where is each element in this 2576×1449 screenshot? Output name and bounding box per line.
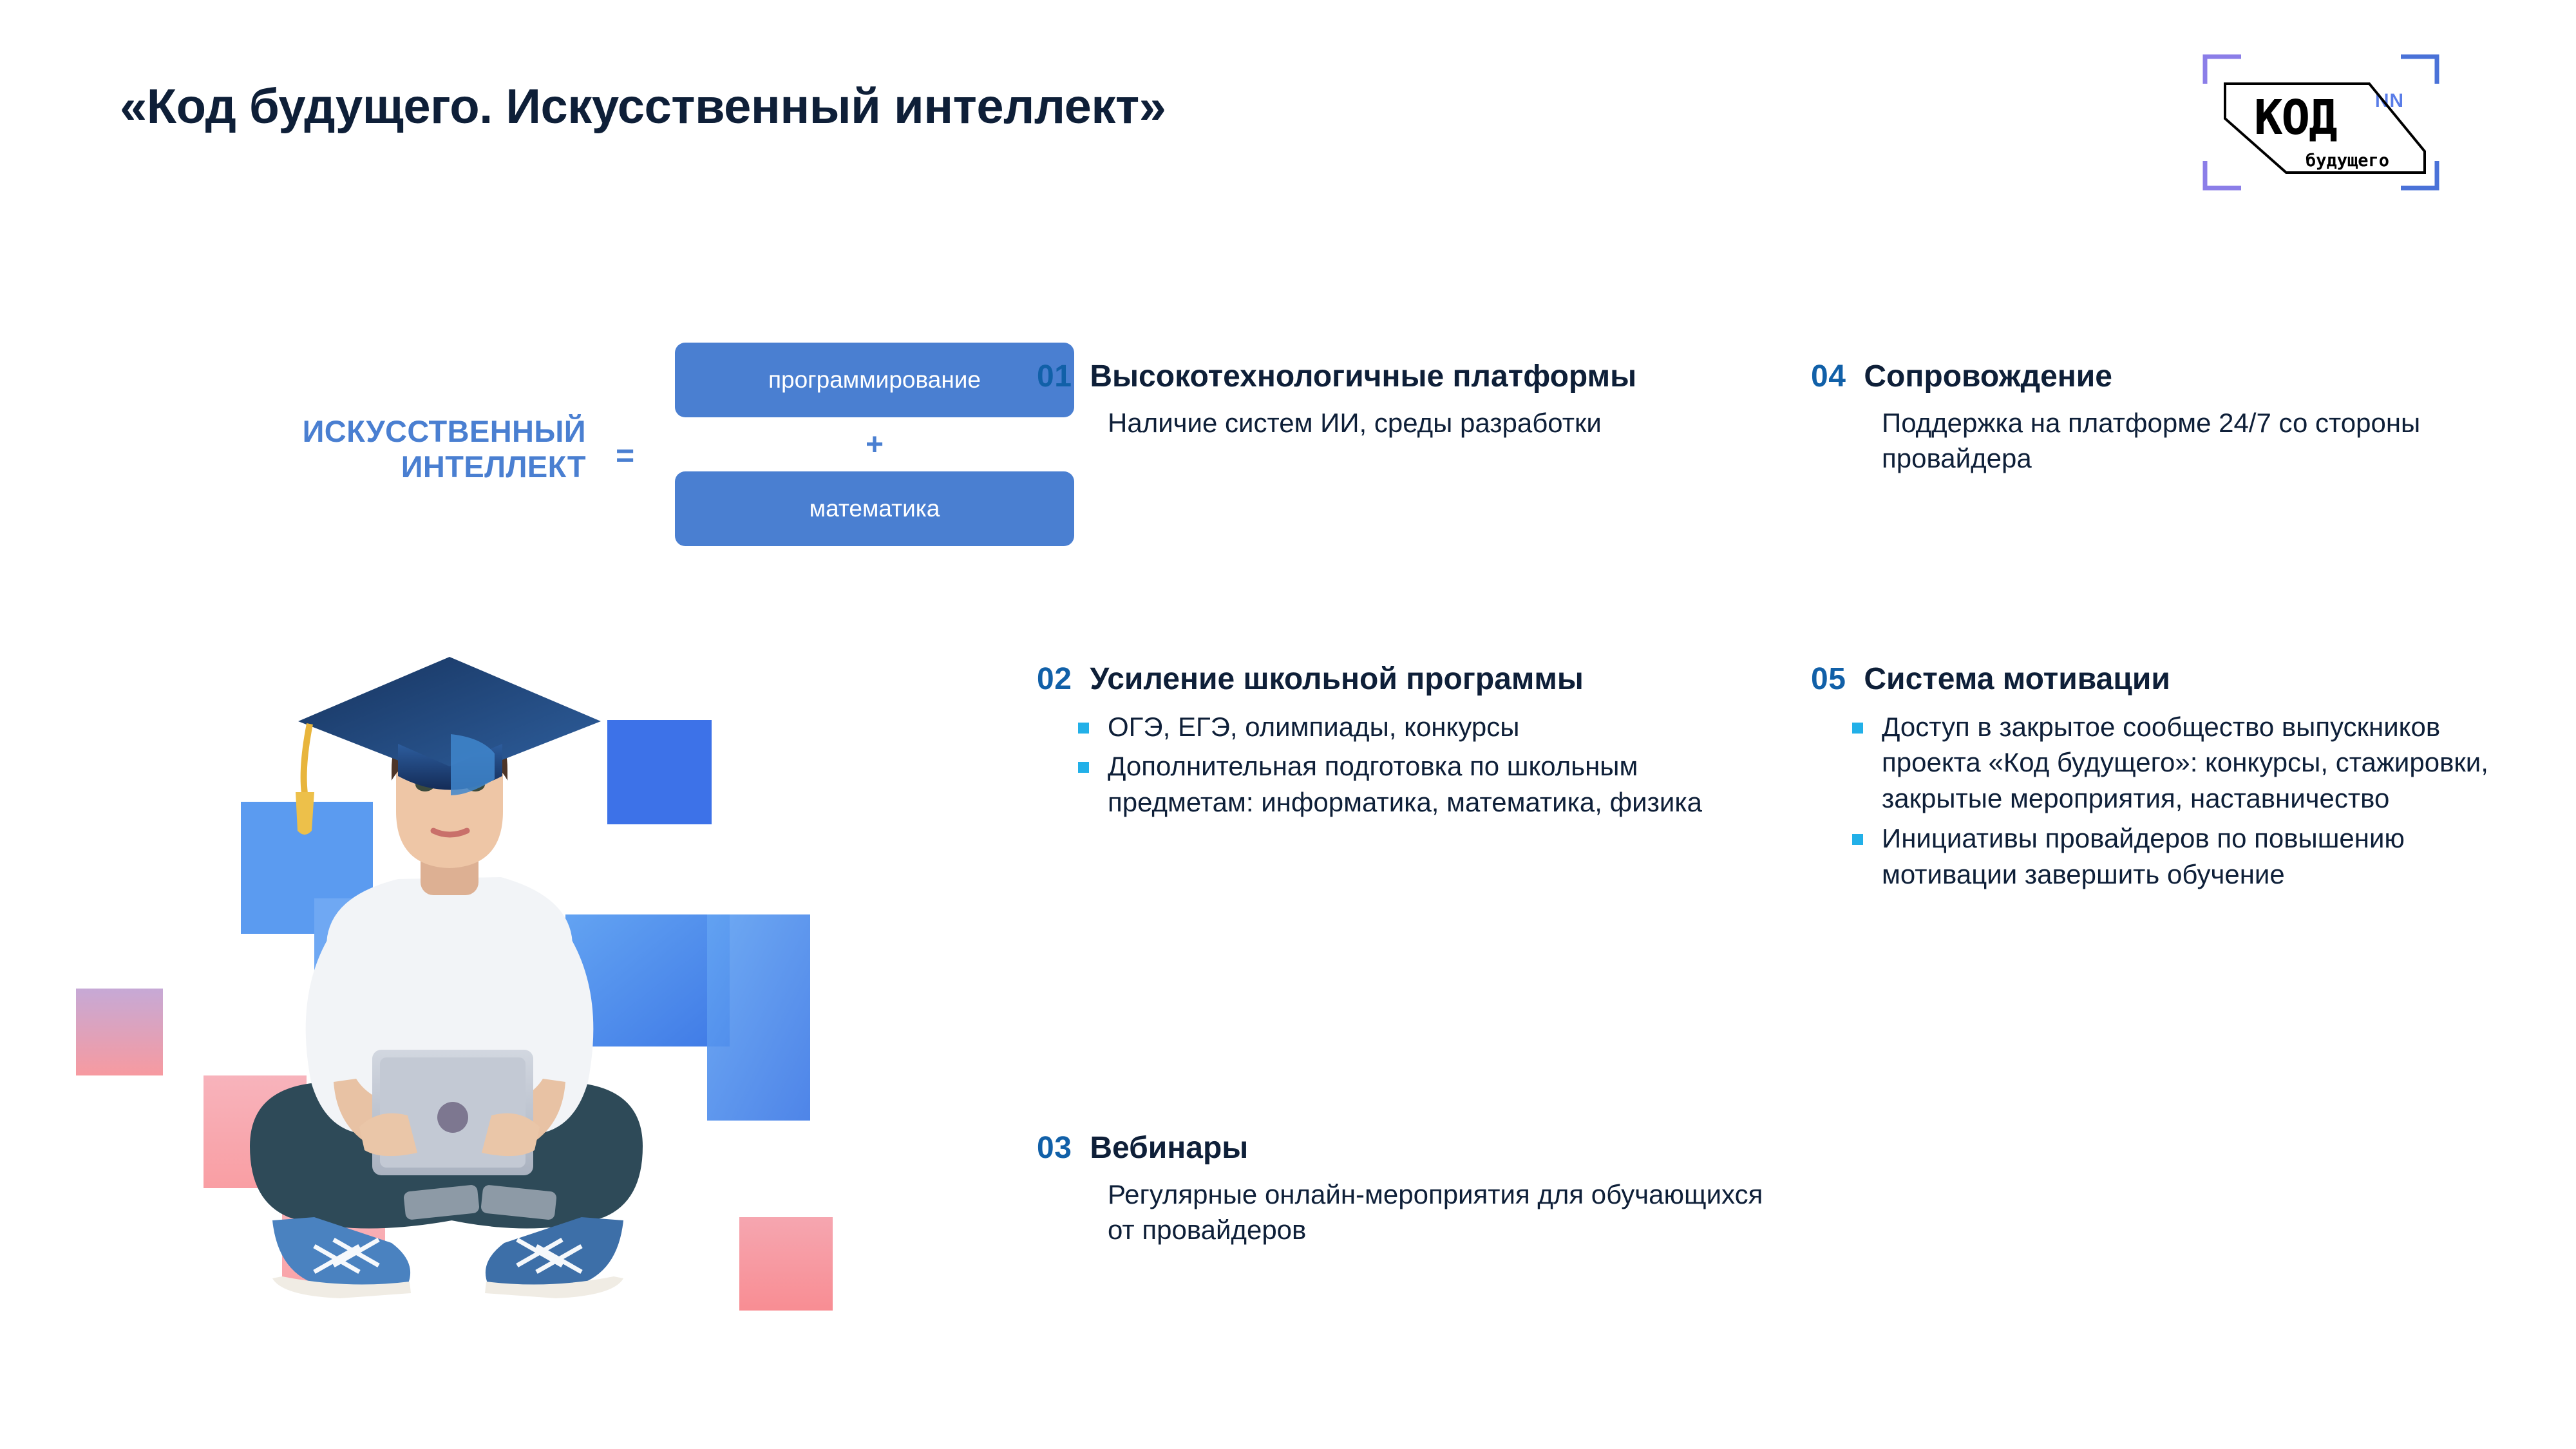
student-figure [250, 657, 643, 1298]
list-item: ОГЭ, ЕГЭ, олимпиады, конкурсы [1037, 709, 1784, 745]
feature-item-03: 03 Вебинары Регулярные онлайн-мероприяти… [1037, 1130, 1784, 1248]
list-item: Инициативы провайдеров по повышению моти… [1811, 820, 2519, 893]
student-illustration [57, 638, 836, 1343]
feature-bullet-list: ОГЭ, ЕГЭ, олимпиады, конкурсы Дополнител… [1037, 709, 1784, 821]
feature-number: 01 [1037, 358, 1072, 396]
feature-header: 04 Сопровождение [1811, 358, 2519, 396]
feature-item-04: 04 Сопровождение Поддержка на платформе … [1811, 358, 2519, 477]
formula-box-mathematics: математика [675, 471, 1074, 546]
feature-header: 03 Вебинары [1037, 1130, 1784, 1168]
ai-formula-label-line2: ИНТЕЛЛЕКТ [142, 449, 586, 484]
ai-formula-terms: программирование + математика [675, 343, 1074, 546]
ai-formula: ИСКУССТВЕННЫЙ ИНТЕЛЛЕКТ = программирован… [97, 335, 998, 554]
svg-text:КОД: КОД [2254, 90, 2337, 146]
feature-title: Сопровождение [1864, 358, 2112, 396]
feature-body: Наличие систем ИИ, среды разработки [1037, 405, 1784, 441]
feature-item-02: 02 Усиление школьной программы ОГЭ, ЕГЭ,… [1037, 661, 1784, 824]
feature-bullet-list: Доступ в закрытое сообщество выпускников… [1811, 709, 2519, 893]
feature-number: 04 [1811, 358, 1846, 396]
feature-number: 05 [1811, 661, 1846, 699]
feature-title: Вебинары [1090, 1130, 1248, 1168]
feature-header: 02 Усиление школьной программы [1037, 661, 1784, 699]
feature-item-05: 05 Система мотивации Доступ в закрытое с… [1811, 661, 2519, 896]
feature-number: 03 [1037, 1130, 1072, 1168]
feature-header: 05 Система мотивации [1811, 661, 2519, 699]
plus-sign: + [675, 417, 1074, 471]
svg-text:будущего: будущего [2306, 151, 2389, 171]
feature-title: Высокотехнологичные платформы [1090, 358, 1636, 396]
feature-body: Поддержка на платформе 24/7 со стороны п… [1811, 405, 2519, 477]
list-item: Дополнительная подготовка по школьным пр… [1037, 748, 1784, 820]
page-title: «Код будущего. Искусственный интеллект» [120, 79, 1166, 135]
feature-body: Регулярные онлайн-мероприятия для обучаю… [1037, 1177, 1784, 1249]
feature-header: 01 Высокотехнологичные платформы [1037, 358, 1784, 396]
feature-title: Усиление школьной программы [1090, 661, 1583, 699]
list-item: Доступ в закрытое сообщество выпускников… [1811, 709, 2519, 817]
brand-logo: ИИ КОД будущего [2184, 44, 2458, 201]
feature-title: Система мотивации [1864, 661, 2170, 699]
ai-formula-label: ИСКУССТВЕННЫЙ ИНТЕЛЛЕКТ [142, 413, 586, 485]
ai-formula-label-line1: ИСКУССТВЕННЫЙ [142, 413, 586, 449]
feature-item-01: 01 Высокотехнологичные платформы Наличие… [1037, 358, 1784, 440]
formula-box-programming: программирование [675, 343, 1074, 417]
feature-number: 02 [1037, 661, 1072, 699]
equals-sign: = [616, 437, 634, 474]
